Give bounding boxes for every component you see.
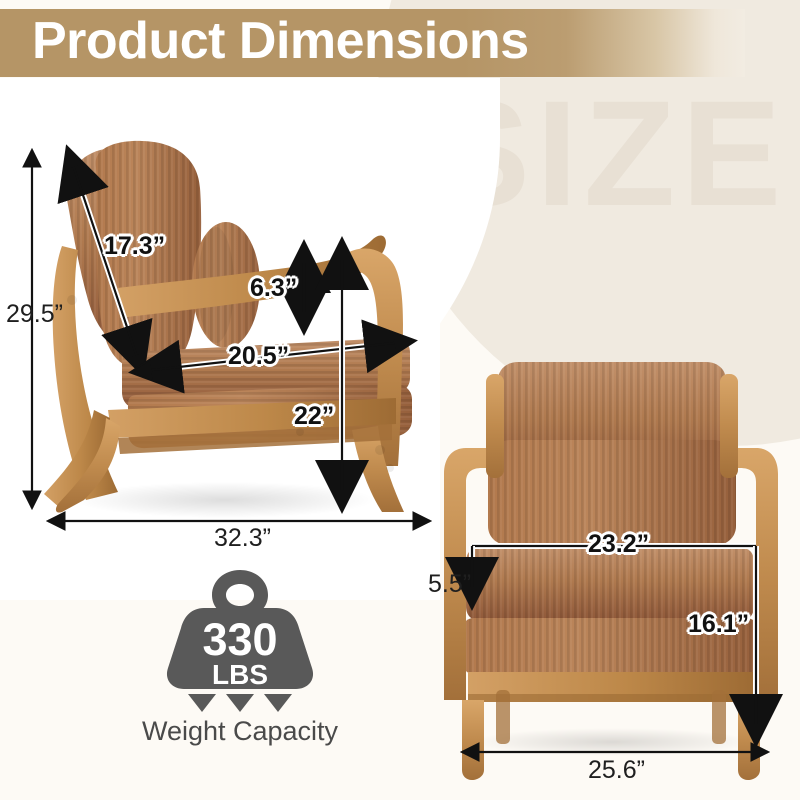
- dim-label-seat-height: 16.1”: [688, 612, 749, 637]
- dim-label-overall-height: 29.5”: [6, 302, 63, 327]
- dim-label-arm-height: 22”: [294, 404, 334, 429]
- front-right-arm: [722, 448, 778, 700]
- dim-label-overall-depth: 32.3”: [214, 526, 271, 551]
- front-view-dimension-lines: [462, 546, 768, 752]
- weight-value: 330: [202, 614, 277, 665]
- dim-label-cushion-height: 5.5”: [428, 572, 471, 597]
- down-arrow-icon: [264, 694, 292, 712]
- front-right-leg: [738, 700, 760, 780]
- weight-capacity-caption: Weight Capacity: [112, 716, 368, 747]
- weight-unit: LBS: [212, 659, 268, 690]
- white-content-panel: [0, 300, 440, 600]
- weight-capacity-block: 330 LBS Weight Capacity: [112, 562, 368, 747]
- weight-icon-wrap: 330 LBS: [112, 562, 368, 712]
- down-arrow-icon: [226, 694, 254, 712]
- dim-label-backrest-height: 17.3”: [104, 234, 165, 259]
- page-title: Product Dimensions: [32, 15, 529, 67]
- dim-label-seat-depth: 20.5”: [228, 344, 289, 369]
- front-apron: [468, 672, 754, 702]
- dim-label-overall-width: 25.6”: [588, 758, 645, 783]
- dim-label-seat-width: 23.2”: [588, 532, 649, 557]
- front-left-leg: [462, 700, 484, 780]
- infographic-canvas: SIZE Product Dimensions: [0, 0, 800, 800]
- down-arrow-icon: [188, 694, 216, 712]
- dim-label-arm-clearance: 6.3”: [250, 276, 297, 301]
- weight-icon: 330 LBS: [112, 562, 368, 712]
